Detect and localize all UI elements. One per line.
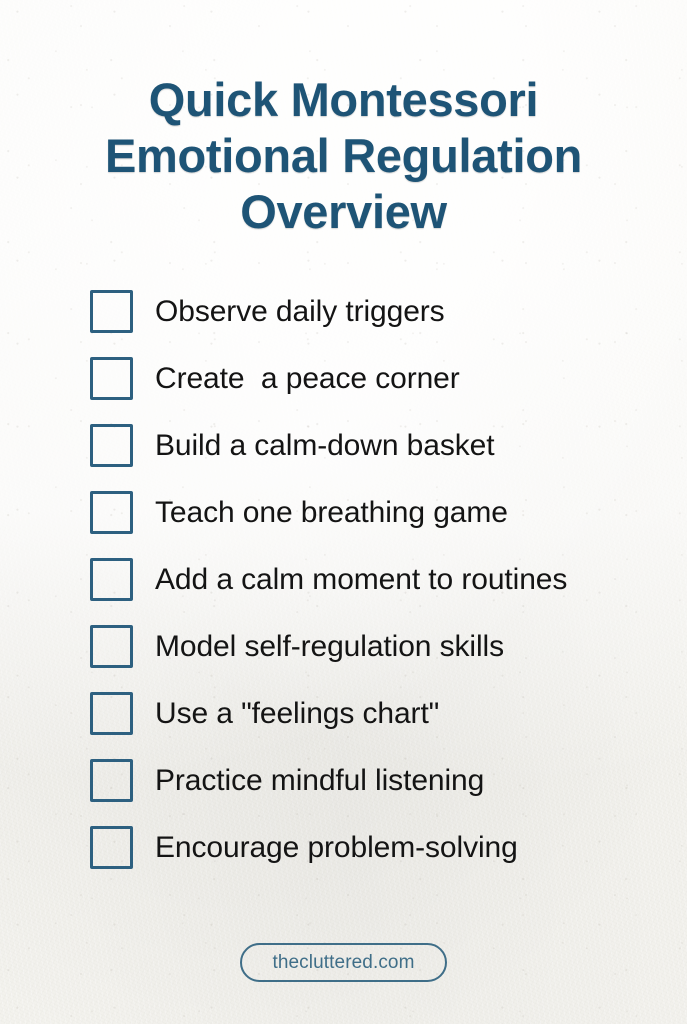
list-item-label: Observe daily triggers [155,290,445,333]
list-item-label: Add a calm moment to routines [155,558,567,601]
checkbox-icon[interactable] [90,290,133,333]
list-item[interactable]: Teach one breathing game [90,491,650,534]
checkbox-icon[interactable] [90,357,133,400]
page-title: Quick Montessori Emotional Regulation Ov… [0,72,687,240]
list-item[interactable]: Create a peace corner [90,357,650,400]
checkbox-icon[interactable] [90,491,133,534]
list-item[interactable]: Build a calm-down basket [90,424,650,467]
list-item[interactable]: Model self-regulation skills [90,625,650,668]
list-item[interactable]: Practice mindful listening [90,759,650,802]
list-item[interactable]: Encourage problem-solving [90,826,650,869]
list-item-label: Create a peace corner [155,357,460,400]
footer: thecluttered.com [0,943,687,982]
list-item-label: Model self-regulation skills [155,625,504,668]
list-item-label: Encourage problem-solving [155,826,518,869]
checklist: Observe daily triggers Create a peace co… [90,290,650,869]
list-item-label: Build a calm-down basket [155,424,494,467]
checkbox-icon[interactable] [90,692,133,735]
website-badge[interactable]: thecluttered.com [240,943,446,982]
checkbox-icon[interactable] [90,424,133,467]
poster-canvas: Quick Montessori Emotional Regulation Ov… [0,0,687,1024]
checkbox-icon[interactable] [90,558,133,601]
checkbox-icon[interactable] [90,759,133,802]
list-item[interactable]: Add a calm moment to routines [90,558,650,601]
list-item-label: Use a "feelings chart" [155,692,439,735]
list-item[interactable]: Use a "feelings chart" [90,692,650,735]
list-item[interactable]: Observe daily triggers [90,290,650,333]
checkbox-icon[interactable] [90,826,133,869]
list-item-label: Practice mindful listening [155,759,484,802]
checkbox-icon[interactable] [90,625,133,668]
list-item-label: Teach one breathing game [155,491,508,534]
